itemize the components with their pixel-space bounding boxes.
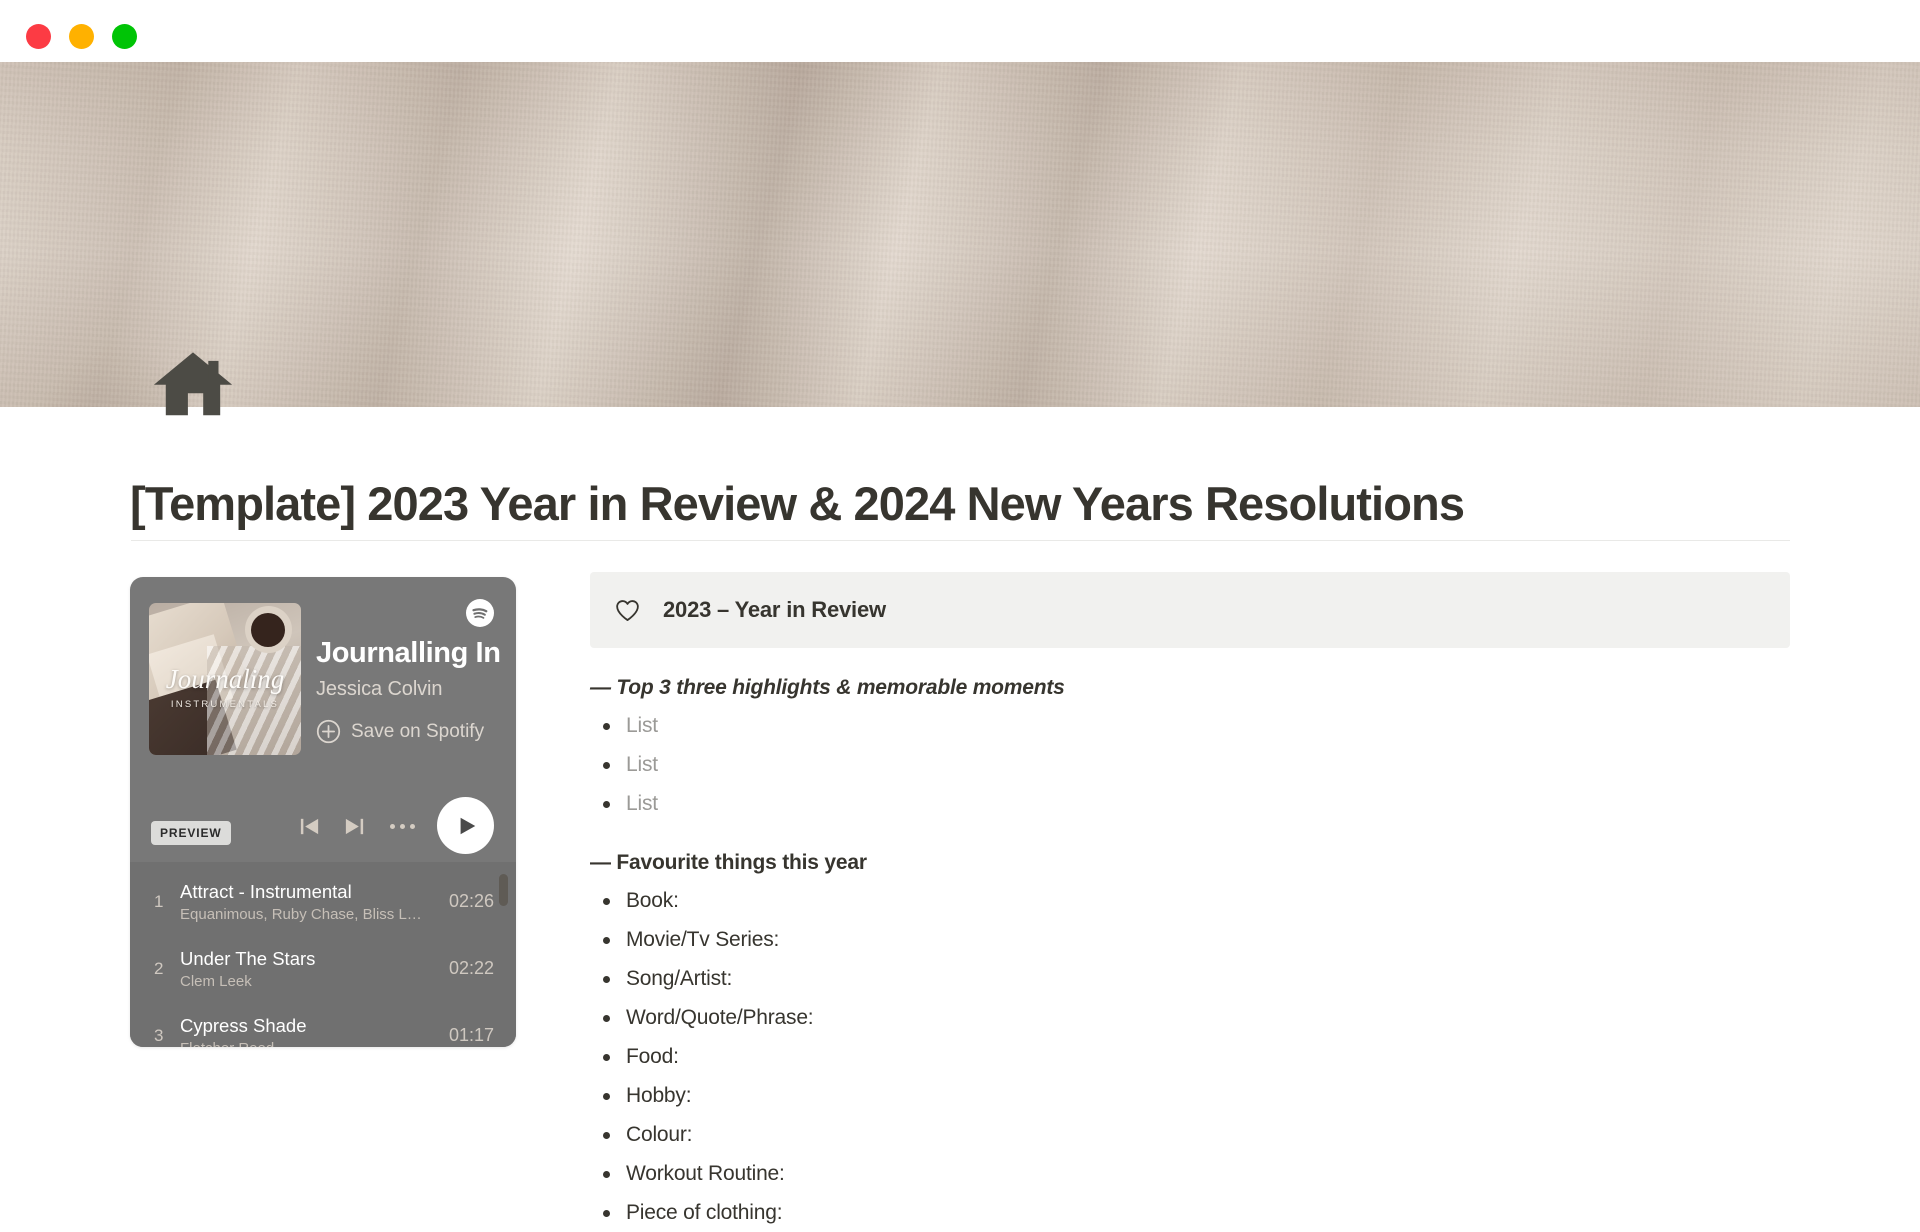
page-cover-image[interactable]: [0, 62, 1920, 407]
track-number: 2: [154, 959, 180, 979]
title-divider: [131, 540, 1790, 541]
traffic-lights: [26, 24, 137, 49]
list-item[interactable]: Word/Quote/Phrase:: [590, 998, 1790, 1037]
player-controls: PREVIEW: [130, 795, 516, 861]
track-row[interactable]: 1 Attract - Instrumental Equanimous, Rub…: [130, 868, 516, 935]
list-item[interactable]: Colour:: [590, 1115, 1790, 1154]
list-item[interactable]: Piece of clothing:: [590, 1193, 1790, 1232]
maximize-button[interactable]: [112, 24, 137, 49]
list-item[interactable]: List: [590, 745, 1790, 784]
spotify-embed[interactable]: Journaling INSTRUMENTALS Journalling In …: [130, 577, 516, 1047]
highlights-list: List List List: [590, 706, 1790, 823]
page-title[interactable]: [Template] 2023 Year in Review & 2024 Ne…: [130, 476, 1810, 531]
track-artists: Clem Leek: [180, 973, 437, 990]
skip-back-icon[interactable]: [298, 815, 321, 838]
list-item[interactable]: Hobby:: [590, 1076, 1790, 1115]
minimize-button[interactable]: [69, 24, 94, 49]
track-number: 3: [154, 1026, 180, 1046]
page-body: [Template] 2023 Year in Review & 2024 Ne…: [0, 407, 1920, 1200]
list-item[interactable]: Movie/Tv Series:: [590, 920, 1790, 959]
house-icon[interactable]: [150, 349, 236, 417]
callout-block[interactable]: 2023 – Year in Review: [590, 572, 1790, 648]
track-list-scrollbar[interactable]: [499, 874, 508, 906]
track-name: Attract - Instrumental: [180, 881, 437, 903]
favourites-list: Book: Movie/Tv Series: Song/Artist: Word…: [590, 881, 1790, 1232]
play-icon[interactable]: [437, 797, 494, 854]
track-row[interactable]: 3 Cypress Shade Fletcher Reed 01:17: [130, 1002, 516, 1047]
save-on-spotify-label: Save on Spotify: [351, 721, 484, 743]
highlights-heading[interactable]: — Top 3 three highlights & memorable mom…: [590, 676, 1790, 700]
list-item[interactable]: Song/Artist:: [590, 959, 1790, 998]
list-item[interactable]: List: [590, 784, 1790, 823]
close-button[interactable]: [26, 24, 51, 49]
spotify-icon[interactable]: [466, 599, 494, 627]
track-artists: Equanimous, Ruby Chase, Bliss L…: [180, 906, 437, 923]
callout-text: 2023 – Year in Review: [663, 597, 886, 623]
track-list[interactable]: 1 Attract - Instrumental Equanimous, Rub…: [130, 862, 516, 1047]
track-duration: 02:22: [449, 958, 494, 979]
album-artwork: Journaling INSTRUMENTALS: [149, 603, 301, 755]
list-item[interactable]: List: [590, 706, 1790, 745]
list-item[interactable]: Workout Routine:: [590, 1154, 1790, 1193]
track-duration: 01:17: [449, 1025, 494, 1046]
track-duration: 02:26: [449, 891, 494, 912]
save-on-spotify-button[interactable]: Save on Spotify: [316, 719, 516, 744]
album-art-title: Journaling: [149, 664, 301, 695]
track-name: Under The Stars: [180, 948, 437, 970]
preview-badge: PREVIEW: [151, 821, 231, 845]
list-item[interactable]: Book:: [590, 881, 1790, 920]
favourites-heading[interactable]: — Favourite things this year: [590, 851, 1790, 875]
plus-circle-icon: [316, 719, 341, 744]
album-art-subtitle: INSTRUMENTALS: [149, 699, 301, 710]
more-options-icon[interactable]: [390, 824, 415, 829]
track-number: 1: [154, 892, 180, 912]
content-column: 2023 – Year in Review — Top 3 three high…: [590, 572, 1790, 1232]
track-metadata: Journalling In Jessica Colvin Save on Sp…: [316, 637, 516, 744]
track-artists: Fletcher Reed: [180, 1040, 437, 1048]
skip-forward-icon[interactable]: [343, 815, 366, 838]
heart-icon: [614, 597, 641, 624]
track-row[interactable]: 2 Under The Stars Clem Leek 02:22: [130, 935, 516, 1002]
track-name: Cypress Shade: [180, 1015, 437, 1037]
list-item[interactable]: Food:: [590, 1037, 1790, 1076]
playlist-title[interactable]: Journalling In: [316, 637, 516, 670]
playlist-artist[interactable]: Jessica Colvin: [316, 678, 516, 701]
